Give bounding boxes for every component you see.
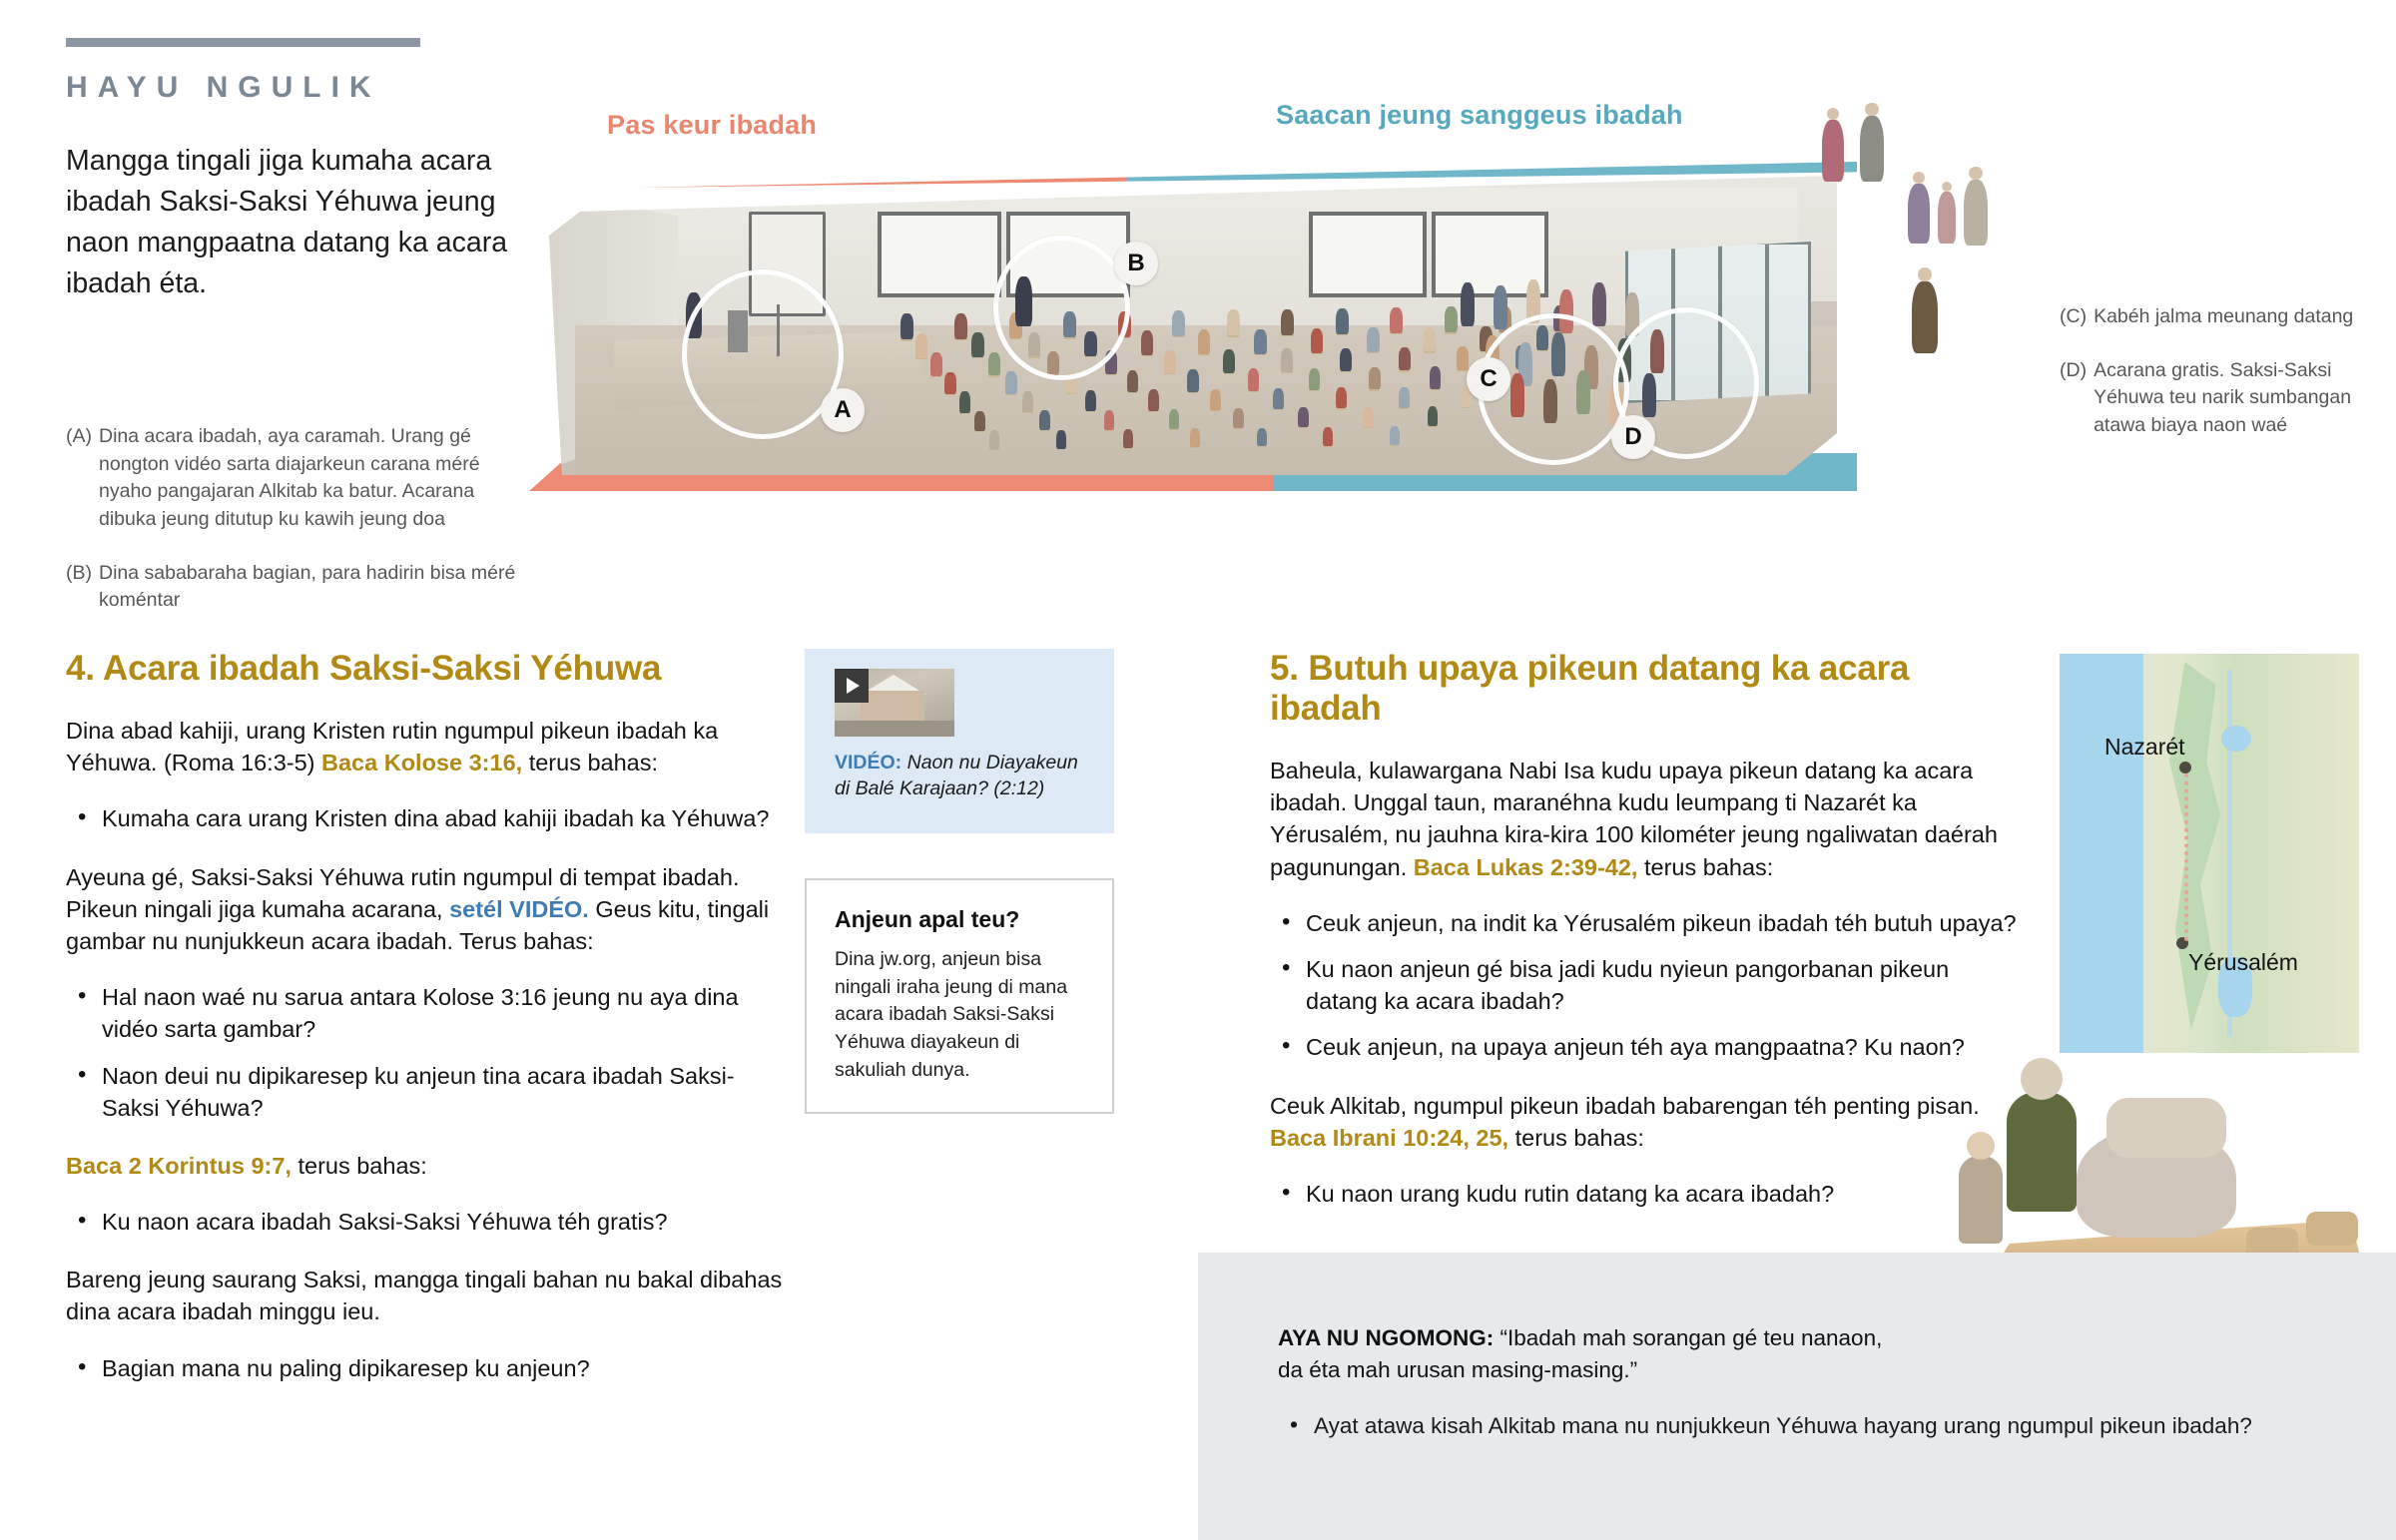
s4-video-link[interactable]: setél VIDÉO. — [449, 896, 589, 922]
seated-person-figure — [1428, 406, 1439, 426]
person-head-shape — [1827, 108, 1839, 120]
note-b: (B) Dina sababaraha bagian, para hadirin… — [66, 560, 535, 615]
seated-person-figure — [900, 313, 913, 339]
quote-text-1: “Ibadah mah sorangan gé teu nanaon, — [1494, 1325, 1882, 1350]
list-item: Hal naon waé nu sarua antara Kolose 3:16… — [66, 981, 785, 1045]
arriving-person-figure — [1822, 120, 1844, 182]
note-c: (C) Kabéh jalma meunang datang — [2060, 303, 2379, 331]
seated-person-figure — [1309, 368, 1321, 390]
seated-person-figure — [1399, 387, 1410, 408]
standing-person-figure — [1592, 282, 1606, 326]
page-kicker: HAYU NGULIK — [66, 71, 535, 105]
illustration-label-beforeafter: Saacan jeung sanggeus ibadah — [1276, 100, 1683, 131]
seated-person-figure — [1172, 310, 1185, 336]
person-head-shape — [1913, 172, 1925, 184]
arriving-person-figure — [1860, 116, 1884, 182]
s4-p3-b: terus bahas: — [292, 1153, 427, 1179]
seated-person-figure — [1039, 410, 1050, 430]
person-head-shape — [1918, 267, 1933, 282]
section-5: 5. Butuh upaya pikeun datang ka acara ib… — [1270, 649, 2024, 1236]
map-route-line — [2184, 773, 2188, 941]
arriving-person-figure — [1908, 184, 1930, 244]
seated-person-figure — [1430, 366, 1442, 388]
list-item: Kumaha cara urang Kristen dina abad kahi… — [66, 802, 785, 834]
callout-circle-b — [993, 236, 1130, 380]
s5-scripture-ibrani[interactable]: Baca Ibrani 10:24, 25, — [1270, 1125, 1508, 1151]
seated-person-figure — [1127, 370, 1139, 392]
callout-badge-c-label: C — [1480, 365, 1497, 393]
seated-person-figure — [944, 372, 956, 394]
list-item: Bagian mana nu paling dipikaresep ku anj… — [66, 1352, 785, 1384]
section-4-heading: 4. Acara ibadah Saksi-Saksi Yéhuwa — [66, 649, 785, 689]
section-4: 4. Acara ibadah Saksi-Saksi Yéhuwa Dina … — [66, 649, 785, 1410]
seated-person-figure — [1390, 307, 1403, 333]
seated-person-figure — [1123, 429, 1133, 448]
person-head-shape — [1969, 167, 1982, 180]
seated-person-figure — [1223, 349, 1235, 373]
list-item: Ku naon urang kudu rutin datang ka acara… — [1270, 1178, 2024, 1210]
section-4-paragraph-1: Dina abad kahiji, urang Kristen rutin ng… — [66, 715, 785, 778]
seated-person-figure — [1187, 369, 1199, 391]
s4-scripture-kolose[interactable]: Baca Kolose 3:16, — [321, 750, 522, 775]
section-5-heading: 5. Butuh upaya pikeun datang ka acara ib… — [1270, 649, 2024, 729]
seated-person-figure — [1399, 347, 1411, 371]
standing-person-figure — [1494, 285, 1507, 329]
seated-person-figure — [1248, 368, 1260, 390]
quote-bullets: Ayat atawa kisah Alkitab mana nu nunjukk… — [1278, 1410, 2316, 1442]
seated-person-figure — [1233, 408, 1244, 428]
seated-person-figure — [930, 352, 942, 376]
note-b-text: Dina sababaraha bagian, para hadirin bis… — [99, 560, 535, 615]
seated-person-figure — [1340, 348, 1352, 372]
people-outside-group — [1812, 110, 2062, 529]
note-a: (A) Dina acara ibadah, aya caramah. Uran… — [66, 423, 535, 534]
seated-person-figure — [989, 430, 999, 449]
seated-person-figure — [1281, 348, 1293, 372]
notes-left: (A) Dina acara ibadah, aya caramah. Uran… — [66, 423, 535, 641]
seated-person-figure — [1424, 327, 1437, 352]
seated-person-figure — [1323, 427, 1333, 446]
section-4-bullets-3: Ku naon acara ibadah Saksi-Saksi Yéhuwa … — [66, 1206, 785, 1238]
seated-person-figure — [1104, 410, 1115, 430]
kingdom-hall-building-shape — [861, 691, 924, 725]
seated-person-figure — [1022, 391, 1033, 412]
callout-badge-a-label: A — [834, 396, 851, 424]
did-you-know-card: Anjeun apal teu? Dina jw.org, anjeun bis… — [805, 878, 1114, 1114]
callout-badge-b: B — [1114, 242, 1158, 285]
seated-person-figure — [1257, 428, 1267, 447]
seated-person-figure — [971, 332, 984, 357]
page-root: HAYU NGULIK Mangga tingali jiga kumaha a… — [0, 0, 2396, 1540]
section-4-paragraph-2: Ayeuna gé, Saksi-Saksi Yéhuwa rutin ngum… — [66, 861, 785, 958]
s5-p1-b: terus bahas: — [1637, 854, 1773, 880]
s4-scripture-korintus[interactable]: Baca 2 Korintus 9:7, — [66, 1153, 292, 1179]
section-5-bullets-2: Ku naon urang kudu rutin datang ka acara… — [1270, 1178, 2024, 1210]
seated-person-figure — [1227, 309, 1240, 335]
baggage-bundle — [2106, 1098, 2226, 1158]
seated-person-figure — [1254, 329, 1267, 354]
list-item: Ku naon anjeun gé bisa jadi kudu nyieun … — [1270, 953, 2024, 1017]
section-4-paragraph-4: Bareng jeung saurang Saksi, mangga tinga… — [66, 1264, 785, 1327]
ground-shape — [835, 721, 954, 737]
seated-person-figure — [1369, 367, 1381, 389]
intro-block: HAYU NGULIK Mangga tingali jiga kumaha a… — [66, 38, 535, 304]
seated-person-figure — [1164, 350, 1176, 374]
callout-badge-c: C — [1467, 357, 1510, 401]
note-d-text: Acarana gratis. Saksi-Saksi Yéhuwa teu n… — [2094, 357, 2379, 440]
note-a-text: Dina acara ibadah, aya caramah. Urang gé… — [99, 423, 535, 534]
did-you-know-body: Dina jw.org, anjeun bisa ningali iraha j… — [835, 946, 1074, 1084]
note-d: (D) Acarana gratis. Saksi-Saksi Yéhuwa t… — [2060, 357, 2379, 440]
list-item: Ayat atawa kisah Alkitab mana nu nunjukk… — [1278, 1410, 2316, 1442]
traveller-man-figure — [2007, 1092, 2077, 1212]
note-a-tag: (A) — [66, 423, 92, 534]
kingdom-hall-illustration: Pas keur ibadah Saacan jeung sanggeus ib… — [529, 100, 2077, 619]
section-5-paragraph-2: Ceuk Alkitab, ngumpul pikeun ibadah baba… — [1270, 1090, 2024, 1154]
video-caption: VIDÉO: Naon nu Diayakeun di Balé Karajaa… — [835, 751, 1096, 801]
section-4-bullets-2: Hal naon waé nu sarua antara Kolose 3:16… — [66, 981, 785, 1124]
seated-person-figure — [915, 333, 928, 358]
callout-badge-b-label: B — [1127, 250, 1144, 277]
video-card[interactable]: VIDÉO: Naon nu Diayakeun di Balé Karajaa… — [805, 649, 1114, 833]
seated-person-figure — [1311, 328, 1324, 353]
seated-person-figure — [1336, 308, 1349, 334]
hall-window — [878, 212, 1001, 297]
video-label: VIDÉO: — [835, 752, 901, 773]
section-4-bullets-4: Bagian mana nu paling dipikaresep ku anj… — [66, 1352, 785, 1384]
did-you-know-heading: Anjeun apal teu? — [835, 906, 1019, 933]
seated-person-figure — [1169, 409, 1180, 429]
sea-of-galilee — [2221, 726, 2251, 752]
map-label-yerusalem: Yérusalém — [2188, 949, 2298, 976]
section-4-bullets-1: Kumaha cara urang Kristen dina abad kahi… — [66, 802, 785, 834]
s5-scripture-lukas[interactable]: Baca Lukas 2:39-42, — [1414, 854, 1638, 880]
objection-quote-card: AYA NU NGOMONG: “Ibadah mah sorangan gé … — [1198, 1253, 2396, 1540]
hall-room: A B C D — [529, 162, 1857, 491]
s4-p1-b: terus bahas: — [522, 750, 658, 775]
list-item: Ku naon acara ibadah Saksi-Saksi Yéhuwa … — [66, 1206, 785, 1238]
seated-person-figure — [1210, 389, 1221, 410]
seated-person-figure — [1281, 309, 1294, 335]
seated-person-figure — [1390, 426, 1400, 445]
seated-person-figure — [1148, 389, 1159, 410]
notes-right: (C) Kabéh jalma meunang datang (D) Acara… — [2060, 303, 2379, 466]
seated-person-figure — [959, 391, 970, 412]
list-item: Naon deui nu dipikaresep ku anjeun tina … — [66, 1060, 785, 1124]
callout-circle-a — [682, 269, 844, 439]
seated-person-figure — [1141, 330, 1154, 355]
seated-person-figure — [1336, 387, 1347, 408]
seated-person-figure — [1445, 306, 1458, 332]
note-c-text: Kabéh jalma meunang datang — [2094, 303, 2379, 331]
list-item: Ceuk anjeun, na indit ka Yérusalém pikeu… — [1270, 907, 2024, 939]
callout-badge-a: A — [821, 388, 865, 432]
quote-line-1: AYA NU NGOMONG: “Ibadah mah sorangan gé … — [1278, 1322, 2316, 1354]
arriving-person-figure — [1912, 281, 1938, 353]
seated-person-figure — [1273, 388, 1284, 409]
seated-person-figure — [954, 313, 967, 339]
seated-person-figure — [974, 411, 985, 431]
illustration-label-during: Pas keur ibadah — [607, 110, 817, 141]
title-rule — [66, 38, 420, 47]
person-head-shape — [1865, 103, 1878, 116]
seated-person-figure — [1005, 371, 1017, 393]
s5-p2-b: terus bahas: — [1508, 1125, 1644, 1151]
seated-person-figure — [1198, 329, 1211, 354]
section-5-bullets-1: Ceuk anjeun, na indit ka Yérusalém pikeu… — [1270, 907, 2024, 1064]
map-dot-nazaret — [2179, 762, 2191, 773]
basket-shape — [2306, 1212, 2358, 1246]
quote-line-2: da éta mah urusan masing-masing.” — [1278, 1354, 2316, 1386]
seated-person-figure — [1367, 327, 1380, 352]
seated-person-figure — [988, 352, 1000, 376]
seated-person-figure — [1056, 430, 1066, 449]
hall-window — [1309, 212, 1427, 297]
standing-person-figure — [1461, 282, 1475, 326]
person-head-shape — [1942, 182, 1952, 192]
s5-p2-a: Ceuk Alkitab, ngumpul pikeun ibadah baba… — [1270, 1093, 1980, 1119]
seated-person-figure — [1363, 407, 1374, 427]
play-icon[interactable] — [835, 669, 869, 703]
intro-paragraph: Mangga tingali jiga kumaha acara ibadah … — [66, 141, 535, 304]
seated-person-figure — [1298, 407, 1309, 427]
map-label-nazaret: Nazarét — [2104, 734, 2185, 761]
quote-label: AYA NU NGOMONG: — [1278, 1325, 1494, 1350]
list-item: Ceuk anjeun, na upaya anjeun téh aya man… — [1270, 1031, 2024, 1063]
arriving-person-figure — [1964, 180, 1988, 246]
traveller-child-figure — [1959, 1156, 2003, 1244]
section-4-paragraph-3: Baca 2 Korintus 9:7, terus bahas: — [66, 1150, 785, 1182]
seated-person-figure — [1457, 346, 1469, 370]
seated-person-figure — [1190, 428, 1200, 447]
note-b-tag: (B) — [66, 560, 92, 615]
callout-badge-d-label: D — [1624, 423, 1641, 451]
section-5-paragraph-1: Baheula, kulawargana Nabi Isa kudu upaya… — [1270, 755, 2024, 883]
arriving-person-figure — [1938, 192, 1956, 244]
seated-person-figure — [1085, 390, 1096, 411]
callout-badge-d: D — [1611, 415, 1655, 459]
